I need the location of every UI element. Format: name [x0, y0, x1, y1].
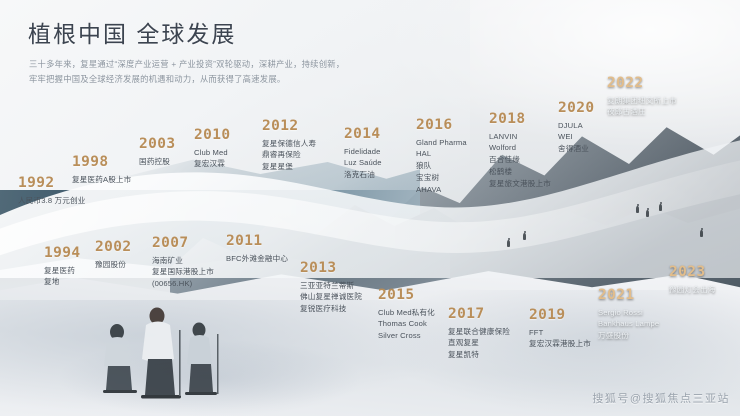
list-item: 复星凯特 — [448, 349, 510, 361]
timeline-items: 豫园股份 — [95, 259, 132, 271]
timeline-items: DJULA WEI 舍得酒业 — [558, 120, 595, 155]
list-item: BFC外滩金融中心 — [226, 253, 288, 265]
watermark: 搜狐号@搜狐焦点三亚站 — [592, 390, 730, 406]
page-subtitle-line-1: 三十多年来，复星通过“深度产业运营 + 产业投资”双轮驱动，深耕产业，持续创新， — [29, 57, 459, 72]
timeline-year: 2007 — [152, 236, 214, 251]
list-item: 复星保德信人寿 — [262, 138, 316, 150]
list-item: Wolford — [489, 142, 551, 154]
hiker-silhouette — [659, 204, 662, 211]
timeline-node-2012[interactable]: 2012 复星保德信人寿 鼎睿再保险 复星星堡 — [262, 119, 316, 173]
list-item: Club Med私有化 — [378, 307, 435, 319]
list-item: 佛山复星禅诚医院 — [300, 291, 362, 303]
list-item: 百合佳缘 — [489, 154, 551, 166]
list-item: 复地 — [44, 276, 81, 288]
list-item: Gland Pharma — [416, 137, 467, 149]
timeline-node-2020[interactable]: 2020 DJULA WEI 舍得酒业 — [558, 101, 595, 155]
list-item: 狼队 — [416, 160, 467, 172]
timeline-node-2018[interactable]: 2018 LANVIN Wolford 百合佳缘 松鹤楼 复星旅文港股上市 — [489, 112, 551, 189]
timeline-node-2007[interactable]: 2007 海南矿业 复星国际港股上市 (00656.HK) — [152, 236, 214, 290]
timeline-year: 2022 — [607, 76, 677, 91]
hiker-silhouette — [523, 233, 526, 240]
timeline-node-2017[interactable]: 2017 复星联合健康保险 直观复星 复星凯特 — [448, 307, 510, 361]
timeline-node-2021[interactable]: 2021 Sergio Rossi Bankhaus Lampe 万盛股份 — [598, 288, 659, 342]
hiker-silhouette — [636, 206, 639, 213]
list-item: 三亚亚特兰蒂斯 — [300, 280, 362, 292]
list-item: (00656.HK) — [152, 278, 214, 290]
timeline-node-2011[interactable]: 2011 BFC外滩金融中心 — [226, 234, 288, 264]
list-item: 国药控股 — [139, 156, 176, 168]
list-item: 舍得酒业 — [558, 143, 595, 155]
timeline-node-1994[interactable]: 1994 复星医药 复地 — [44, 246, 81, 288]
list-item: Bankhaus Lampe — [598, 318, 659, 330]
timeline-node-2015[interactable]: 2015 Club Med私有化 Thomas Cook Silver Cros… — [378, 288, 435, 342]
timeline-year: 2012 — [262, 119, 316, 134]
timeline-node-2010[interactable]: 2010 Club Med 复宏汉霖 — [194, 128, 231, 170]
timeline-year: 2023 — [669, 265, 715, 280]
list-item: 复星医药 — [44, 265, 81, 277]
page-subtitle-line-2: 牢牢把握中国及全球经济发展的机遇和动力，从而获得了高速发展。 — [29, 72, 459, 87]
timeline-year: 2021 — [598, 288, 659, 303]
timeline-node-2014[interactable]: 2014 Fidelidade Luz Saúde 洛克石油 — [344, 127, 382, 181]
list-item: DJULA — [558, 120, 595, 132]
slide-canvas: 植根中国 全球发展 三十多年来，复星通过“深度产业运营 + 产业投资”双轮驱动，… — [0, 0, 740, 416]
timeline-items: LANVIN Wolford 百合佳缘 松鹤楼 复星旅文港股上市 — [489, 131, 551, 190]
skier-group — [95, 300, 230, 410]
list-item: WEI — [558, 131, 595, 143]
timeline-items: FFT 复宏汉霖港股上市 — [529, 327, 591, 351]
list-item: 豫园灯会出海 — [669, 284, 715, 296]
list-item: 复朗集团纽交所上市 — [607, 95, 677, 107]
page-subtitle: 三十多年来，复星通过“深度产业运营 + 产业投资”双轮驱动，深耕产业，持续创新，… — [29, 57, 459, 88]
list-item: 复星星堡 — [262, 161, 316, 173]
list-item: 复锐医疗科技 — [300, 303, 362, 315]
hiker-silhouette — [507, 240, 510, 247]
timeline-year: 2002 — [95, 240, 132, 255]
timeline-year: 2013 — [300, 261, 362, 276]
list-item: 万盛股份 — [598, 330, 659, 342]
timeline-items: 海南矿业 复星国际港股上市 (00656.HK) — [152, 255, 214, 290]
list-item: Club Med — [194, 147, 231, 159]
list-item: AHAVA — [416, 184, 467, 196]
timeline-node-2022[interactable]: 2022 复朗集团纽交所上市 夜郎古酒庄 — [607, 76, 677, 118]
timeline-items: Fidelidade Luz Saúde 洛克石油 — [344, 146, 382, 181]
timeline-node-2023[interactable]: 2023 豫园灯会出海 — [669, 265, 715, 295]
list-item: FFT — [529, 327, 591, 339]
timeline-year: 1994 — [44, 246, 81, 261]
timeline-year: 2020 — [558, 101, 595, 116]
timeline-node-1998[interactable]: 1998 复星医药A股上市 — [72, 155, 131, 185]
list-item: 复宏汉霖 — [194, 158, 231, 170]
timeline-year: 2016 — [416, 118, 467, 133]
list-item: 宝宝树 — [416, 172, 467, 184]
timeline-items: Club Med 复宏汉霖 — [194, 147, 231, 171]
timeline-year: 1998 — [72, 155, 131, 170]
list-item: LANVIN — [489, 131, 551, 143]
list-item: 复宏汉霖港股上市 — [529, 338, 591, 350]
timeline-node-2019[interactable]: 2019 FFT 复宏汉霖港股上市 — [529, 308, 591, 350]
timeline-year: 2003 — [139, 137, 176, 152]
timeline-year: 2010 — [194, 128, 231, 143]
timeline-node-2016[interactable]: 2016 Gland Pharma HAL 狼队 宝宝树 AHAVA — [416, 118, 467, 195]
timeline-items: 国药控股 — [139, 156, 176, 168]
list-item: Silver Cross — [378, 330, 435, 342]
list-item: 直观复星 — [448, 337, 510, 349]
timeline-items: 复朗集团纽交所上市 夜郎古酒庄 — [607, 95, 677, 119]
list-item: 海南矿业 — [152, 255, 214, 267]
timeline-items: Club Med私有化 Thomas Cook Silver Cross — [378, 307, 435, 342]
list-item: HAL — [416, 148, 467, 160]
timeline-items: 复星医药A股上市 — [72, 174, 131, 186]
timeline-items: 复星保德信人寿 鼎睿再保险 复星星堡 — [262, 138, 316, 173]
timeline-items: 复星医药 复地 — [44, 265, 81, 289]
list-item: 人民币3.8 万元创业 — [18, 195, 85, 207]
list-item: 复星旅文港股上市 — [489, 178, 551, 190]
timeline-node-2002[interactable]: 2002 豫园股份 — [95, 240, 132, 270]
timeline-items: Gland Pharma HAL 狼队 宝宝树 AHAVA — [416, 137, 467, 196]
list-item: Thomas Cook — [378, 318, 435, 330]
timeline-node-2013[interactable]: 2013 三亚亚特兰蒂斯 佛山复星禅诚医院 复锐医疗科技 — [300, 261, 362, 315]
list-item: 复星联合健康保险 — [448, 326, 510, 338]
list-item: Luz Saúde — [344, 157, 382, 169]
timeline-year: 2017 — [448, 307, 510, 322]
hiker-silhouette — [700, 230, 703, 237]
list-item: Sergio Rossi — [598, 307, 659, 319]
hiker-silhouette — [646, 210, 649, 217]
timeline-items: 复星联合健康保险 直观复星 复星凯特 — [448, 326, 510, 361]
timeline-node-2003[interactable]: 2003 国药控股 — [139, 137, 176, 167]
timeline-items: Sergio Rossi Bankhaus Lampe 万盛股份 — [598, 307, 659, 342]
timeline-items: 人民币3.8 万元创业 — [18, 195, 85, 207]
timeline-year: 2019 — [529, 308, 591, 323]
timeline-year: 2011 — [226, 234, 288, 249]
page-title: 植根中国 全球发展 — [28, 22, 236, 47]
timeline-items: 三亚亚特兰蒂斯 佛山复星禅诚医院 复锐医疗科技 — [300, 280, 362, 315]
list-item: 夜郎古酒庄 — [607, 106, 677, 118]
timeline-year: 2015 — [378, 288, 435, 303]
list-item: Fidelidade — [344, 146, 382, 158]
timeline-items: 豫园灯会出海 — [669, 284, 715, 296]
list-item: 松鹤楼 — [489, 166, 551, 178]
timeline-items: BFC外滩金融中心 — [226, 253, 288, 265]
list-item: 鼎睿再保险 — [262, 149, 316, 161]
list-item: 复星医药A股上市 — [72, 174, 131, 186]
list-item: 洛克石油 — [344, 169, 382, 181]
list-item: 豫园股份 — [95, 259, 132, 271]
timeline-year: 2014 — [344, 127, 382, 142]
list-item: 复星国际港股上市 — [152, 266, 214, 278]
timeline-year: 2018 — [489, 112, 551, 127]
